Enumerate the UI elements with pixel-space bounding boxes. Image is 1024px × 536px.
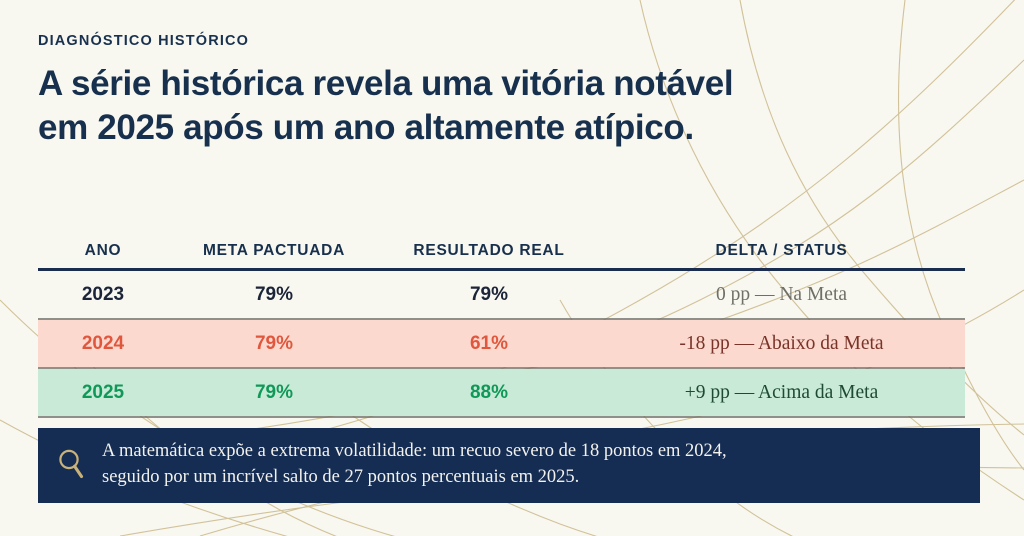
row-divider <box>38 416 965 418</box>
cell-ano: 2025 <box>38 382 168 404</box>
eyebrow-label: DIAGNÓSTICO HISTÓRICO <box>38 33 249 49</box>
table-row: 2025 79% 88% +9 pp — Acima da Meta <box>38 369 965 416</box>
cell-ano: 2023 <box>38 284 168 306</box>
column-header-ano: ANO <box>38 242 168 260</box>
page-title: A série histórica revela uma vitória not… <box>38 62 968 150</box>
row-divider <box>38 367 965 369</box>
column-header-delta: DELTA / STATUS <box>598 242 965 260</box>
history-table: ANO META PACTUADA RESULTADO REAL DELTA /… <box>38 236 965 418</box>
cell-meta: 79% <box>168 333 380 355</box>
cell-delta: +9 pp — Acima da Meta <box>598 382 965 404</box>
column-header-resultado: RESULTADO REAL <box>380 242 598 260</box>
cell-delta: 0 pp — Na Meta <box>598 284 965 306</box>
callout-line-1: A matemática expõe a extrema volatilidad… <box>102 438 727 464</box>
headline-line-2: em 2025 após um ano altamente atípico. <box>38 106 968 150</box>
callout-line-2: seguido por um incrível salto de 27 pont… <box>102 464 727 490</box>
table-row: 2023 79% 79% 0 pp — Na Meta <box>38 271 965 318</box>
table-header-row: ANO META PACTUADA RESULTADO REAL DELTA /… <box>38 236 965 266</box>
slide-canvas: DIAGNÓSTICO HISTÓRICO A série histórica … <box>0 0 1024 536</box>
row-divider <box>38 318 965 320</box>
cell-delta: -18 pp — Abaixo da Meta <box>598 333 965 355</box>
cell-resultado: 79% <box>380 284 598 306</box>
magnifying-glass-icon <box>54 444 88 484</box>
cell-meta: 79% <box>168 382 380 404</box>
table-row: 2024 79% 61% -18 pp — Abaixo da Meta <box>38 320 965 367</box>
callout-text: A matemática expõe a extrema volatilidad… <box>102 438 727 491</box>
column-header-meta: META PACTUADA <box>168 242 380 260</box>
cell-resultado: 61% <box>380 333 598 355</box>
cell-resultado: 88% <box>380 382 598 404</box>
headline-line-1: A série histórica revela uma vitória not… <box>38 62 968 106</box>
cell-meta: 79% <box>168 284 380 306</box>
insight-callout: A matemática expõe a extrema volatilidad… <box>38 428 980 503</box>
cell-ano: 2024 <box>38 333 168 355</box>
